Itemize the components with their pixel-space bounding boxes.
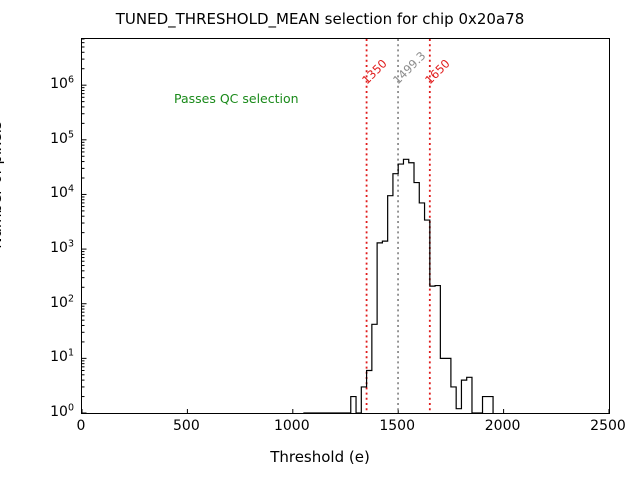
x-tick-label: 500: [173, 418, 200, 434]
y-tick-label: 103: [50, 240, 74, 256]
y-tick-label: 106: [50, 76, 74, 92]
y-tick-label: 105: [50, 131, 74, 147]
y-tick-label: 100: [50, 404, 74, 420]
y-tick-label: 101: [50, 349, 74, 365]
histogram-svg: [82, 39, 609, 413]
x-tick-label: 1000: [274, 418, 310, 434]
threshold-vlines: [367, 39, 430, 413]
x-tick-label: 0: [77, 418, 86, 434]
x-tick-label: 2500: [590, 418, 626, 434]
axis-ticks: [82, 39, 609, 413]
y-tick-label: 102: [50, 295, 74, 311]
histogram-figure: TUNED_THRESHOLD_MEAN selection for chip …: [0, 0, 640, 480]
qc-annotation: Passes QC selection: [174, 91, 299, 106]
page-title: TUNED_THRESHOLD_MEAN selection for chip …: [0, 10, 640, 28]
y-axis-label: Number of pixels: [0, 0, 5, 395]
y-tick-label: 104: [50, 185, 74, 201]
x-axis-label: Threshold (e): [0, 448, 640, 466]
x-tick-label: 2000: [485, 418, 521, 434]
histogram-step-line: [303, 159, 493, 413]
x-tick-label: 1500: [379, 418, 415, 434]
plot-area: Passes QC selection 13501499.31650: [81, 38, 610, 414]
